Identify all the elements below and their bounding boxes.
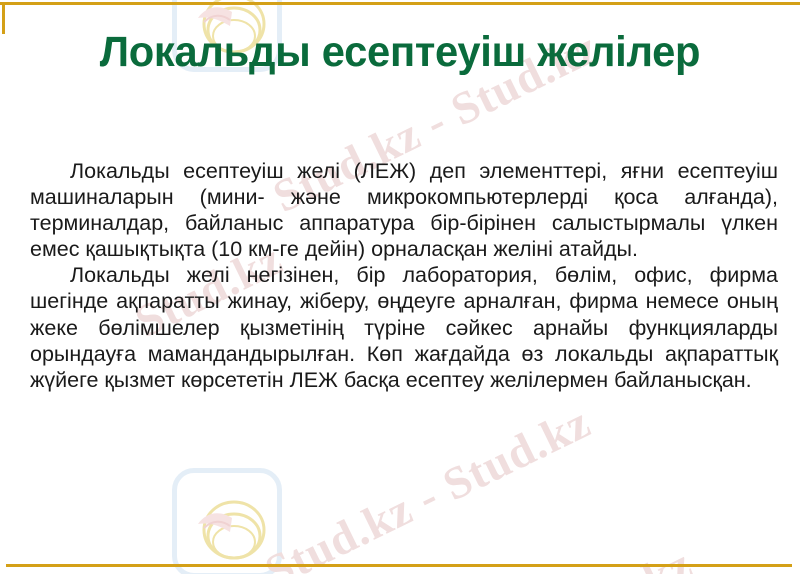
body-paragraph-2: Локальды желі негізінен, бір лаборатория… [30,262,778,392]
logo-plate [172,468,282,574]
watermark-text: Stud.kz [537,537,701,574]
top-border-accent [0,2,800,5]
hummingbird-icon [172,468,282,574]
presentation-slide: Stud.kz - Stud.kz Stud.kz Stud.kz - Stud… [0,0,800,574]
slide-body: Локальды есептеуіш желі (ЛЕЖ) деп элемен… [30,158,778,393]
hummingbird-logo-watermark-bottom [172,468,282,574]
slide-title: Локальды есептеуіш желілер [12,24,788,80]
body-paragraph-1: Локальды есептеуіш желі (ЛЕЖ) деп элемен… [30,158,778,262]
bottom-border-accent [6,564,792,567]
watermark-text: Stud.kz - Stud.kz [257,395,599,574]
left-border-accent [2,2,5,34]
